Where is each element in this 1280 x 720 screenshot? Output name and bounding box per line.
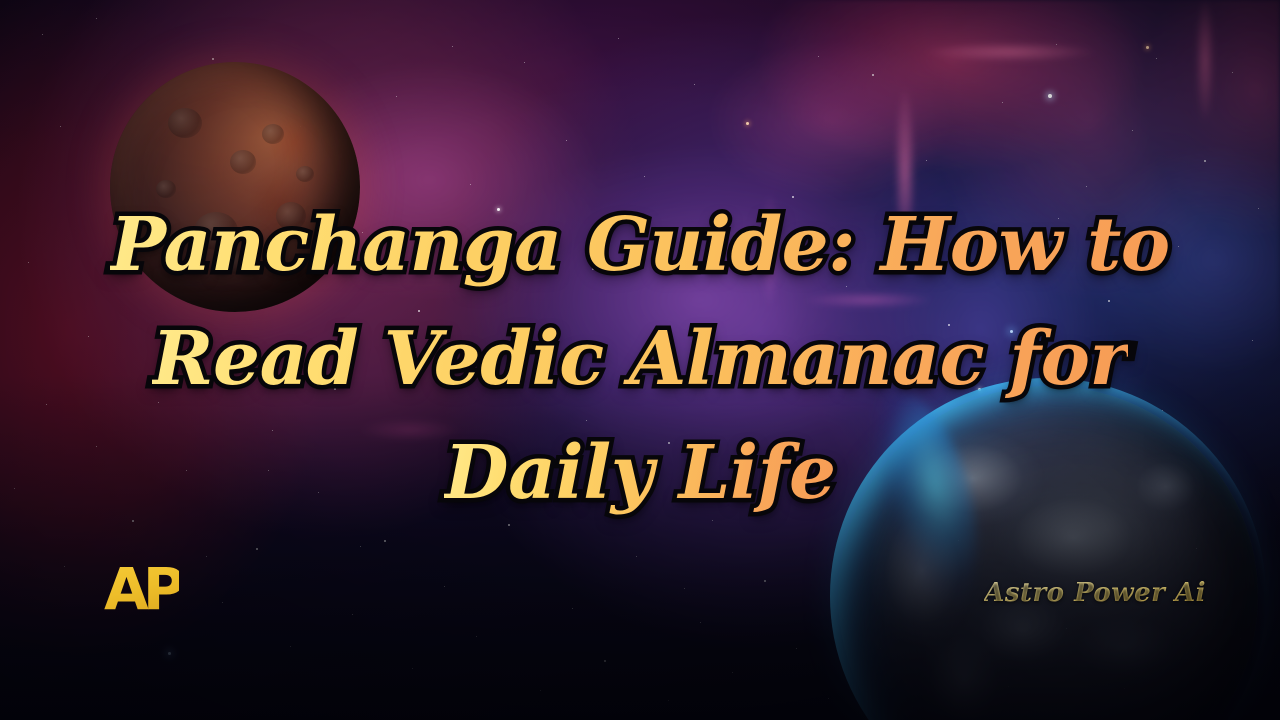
brand-wordmark: Astro Power Ai: [984, 578, 1206, 608]
title-line-2-text: Read Vedic Almanac for: [152, 316, 1128, 402]
title-line-1-text: Panchanga Guide: How to: [110, 202, 1169, 288]
title-line-3-text: Daily Life: [444, 430, 835, 516]
thumbnail-canvas: Panchanga Guide: How to Panchanga Guide:…: [0, 0, 1280, 720]
title-line-1: Panchanga Guide: How to Panchanga Guide:…: [46, 188, 1234, 302]
brand-logo: AP: [104, 560, 179, 618]
title-line-2: Read Vedic Almanac for Read Vedic Almana…: [46, 302, 1234, 416]
brand-wordmark-text: Astro Power Ai: [984, 578, 1206, 608]
page-title: Panchanga Guide: How to Panchanga Guide:…: [0, 188, 1280, 530]
title-line-3: Daily Life Daily Life: [46, 416, 1234, 530]
brand-logo-mark: AP: [104, 555, 179, 623]
